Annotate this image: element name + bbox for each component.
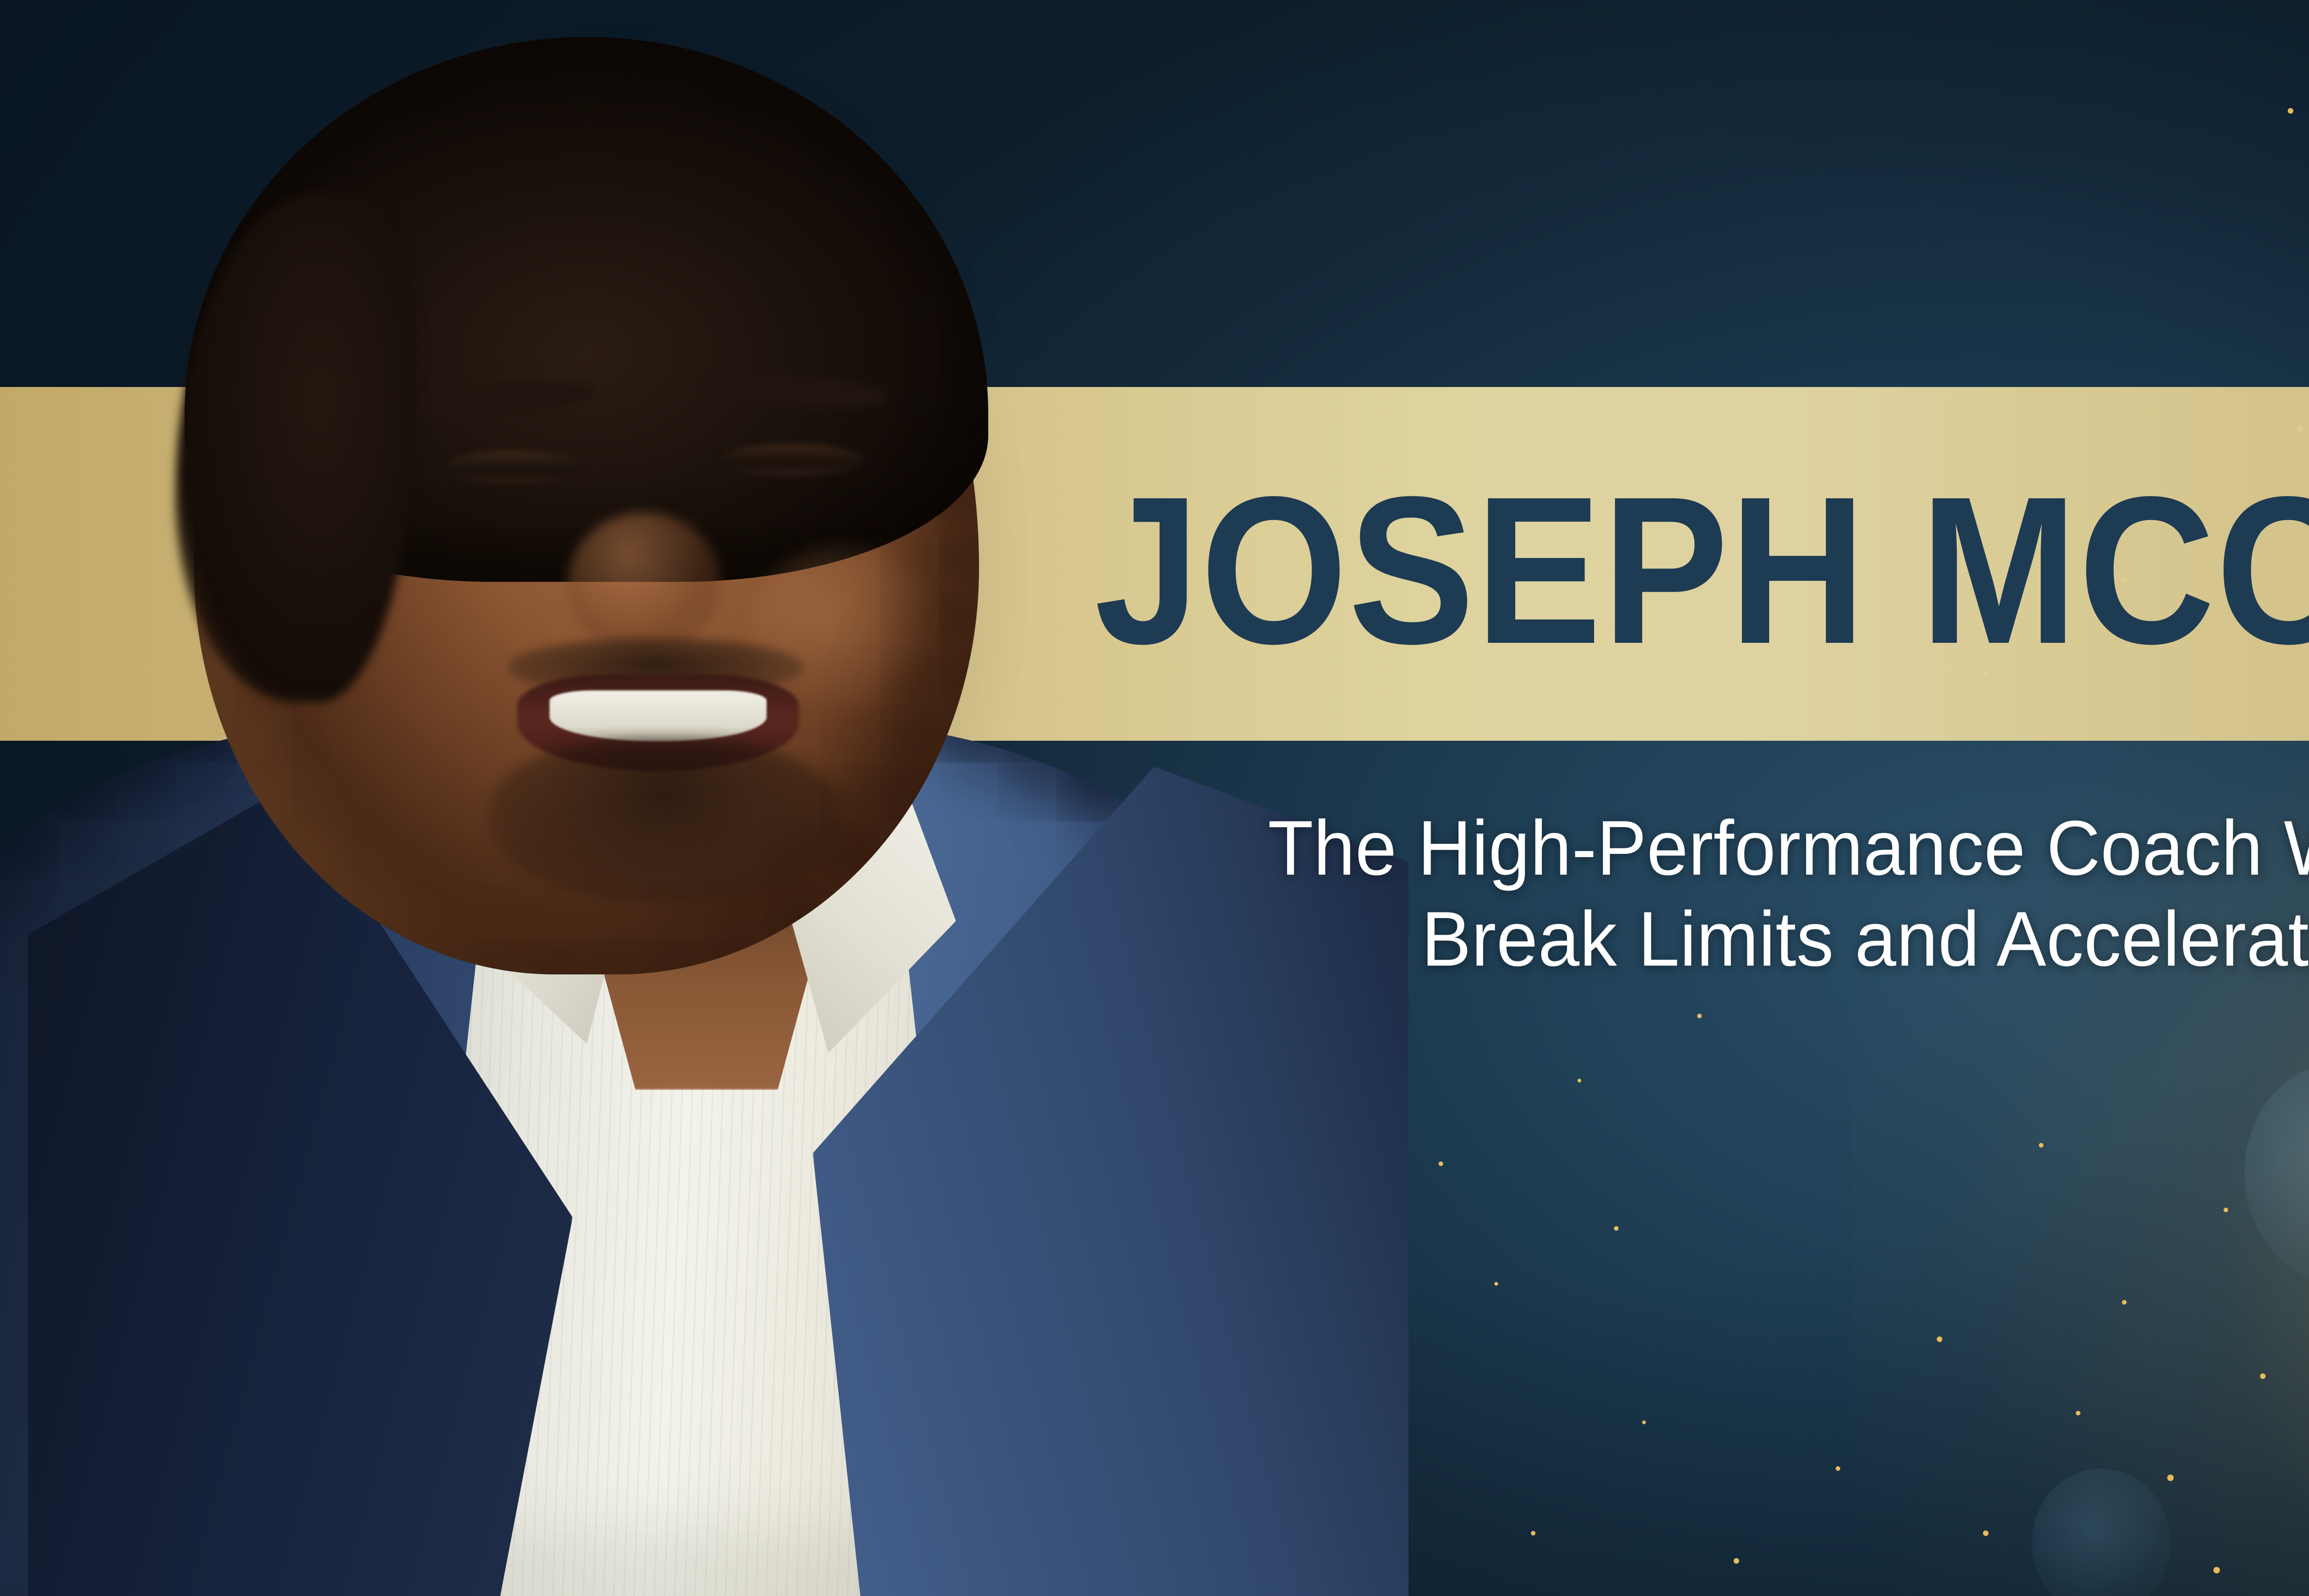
subtitle-line-1: The High-Performance Coach Who Helps You — [1247, 803, 2309, 894]
subtitle: The High-Performance Coach Who Helps You… — [1247, 803, 2309, 985]
page-title: JOSEPH MCCLENDON III — [1094, 462, 2309, 702]
subtitle-line-2: Break Limits and Accelerate Results. — [1247, 894, 2309, 985]
background-vignette — [0, 0, 2309, 1596]
hero-banner: JOSEPH MCCLENDON III The High-Performanc… — [0, 0, 2309, 1596]
